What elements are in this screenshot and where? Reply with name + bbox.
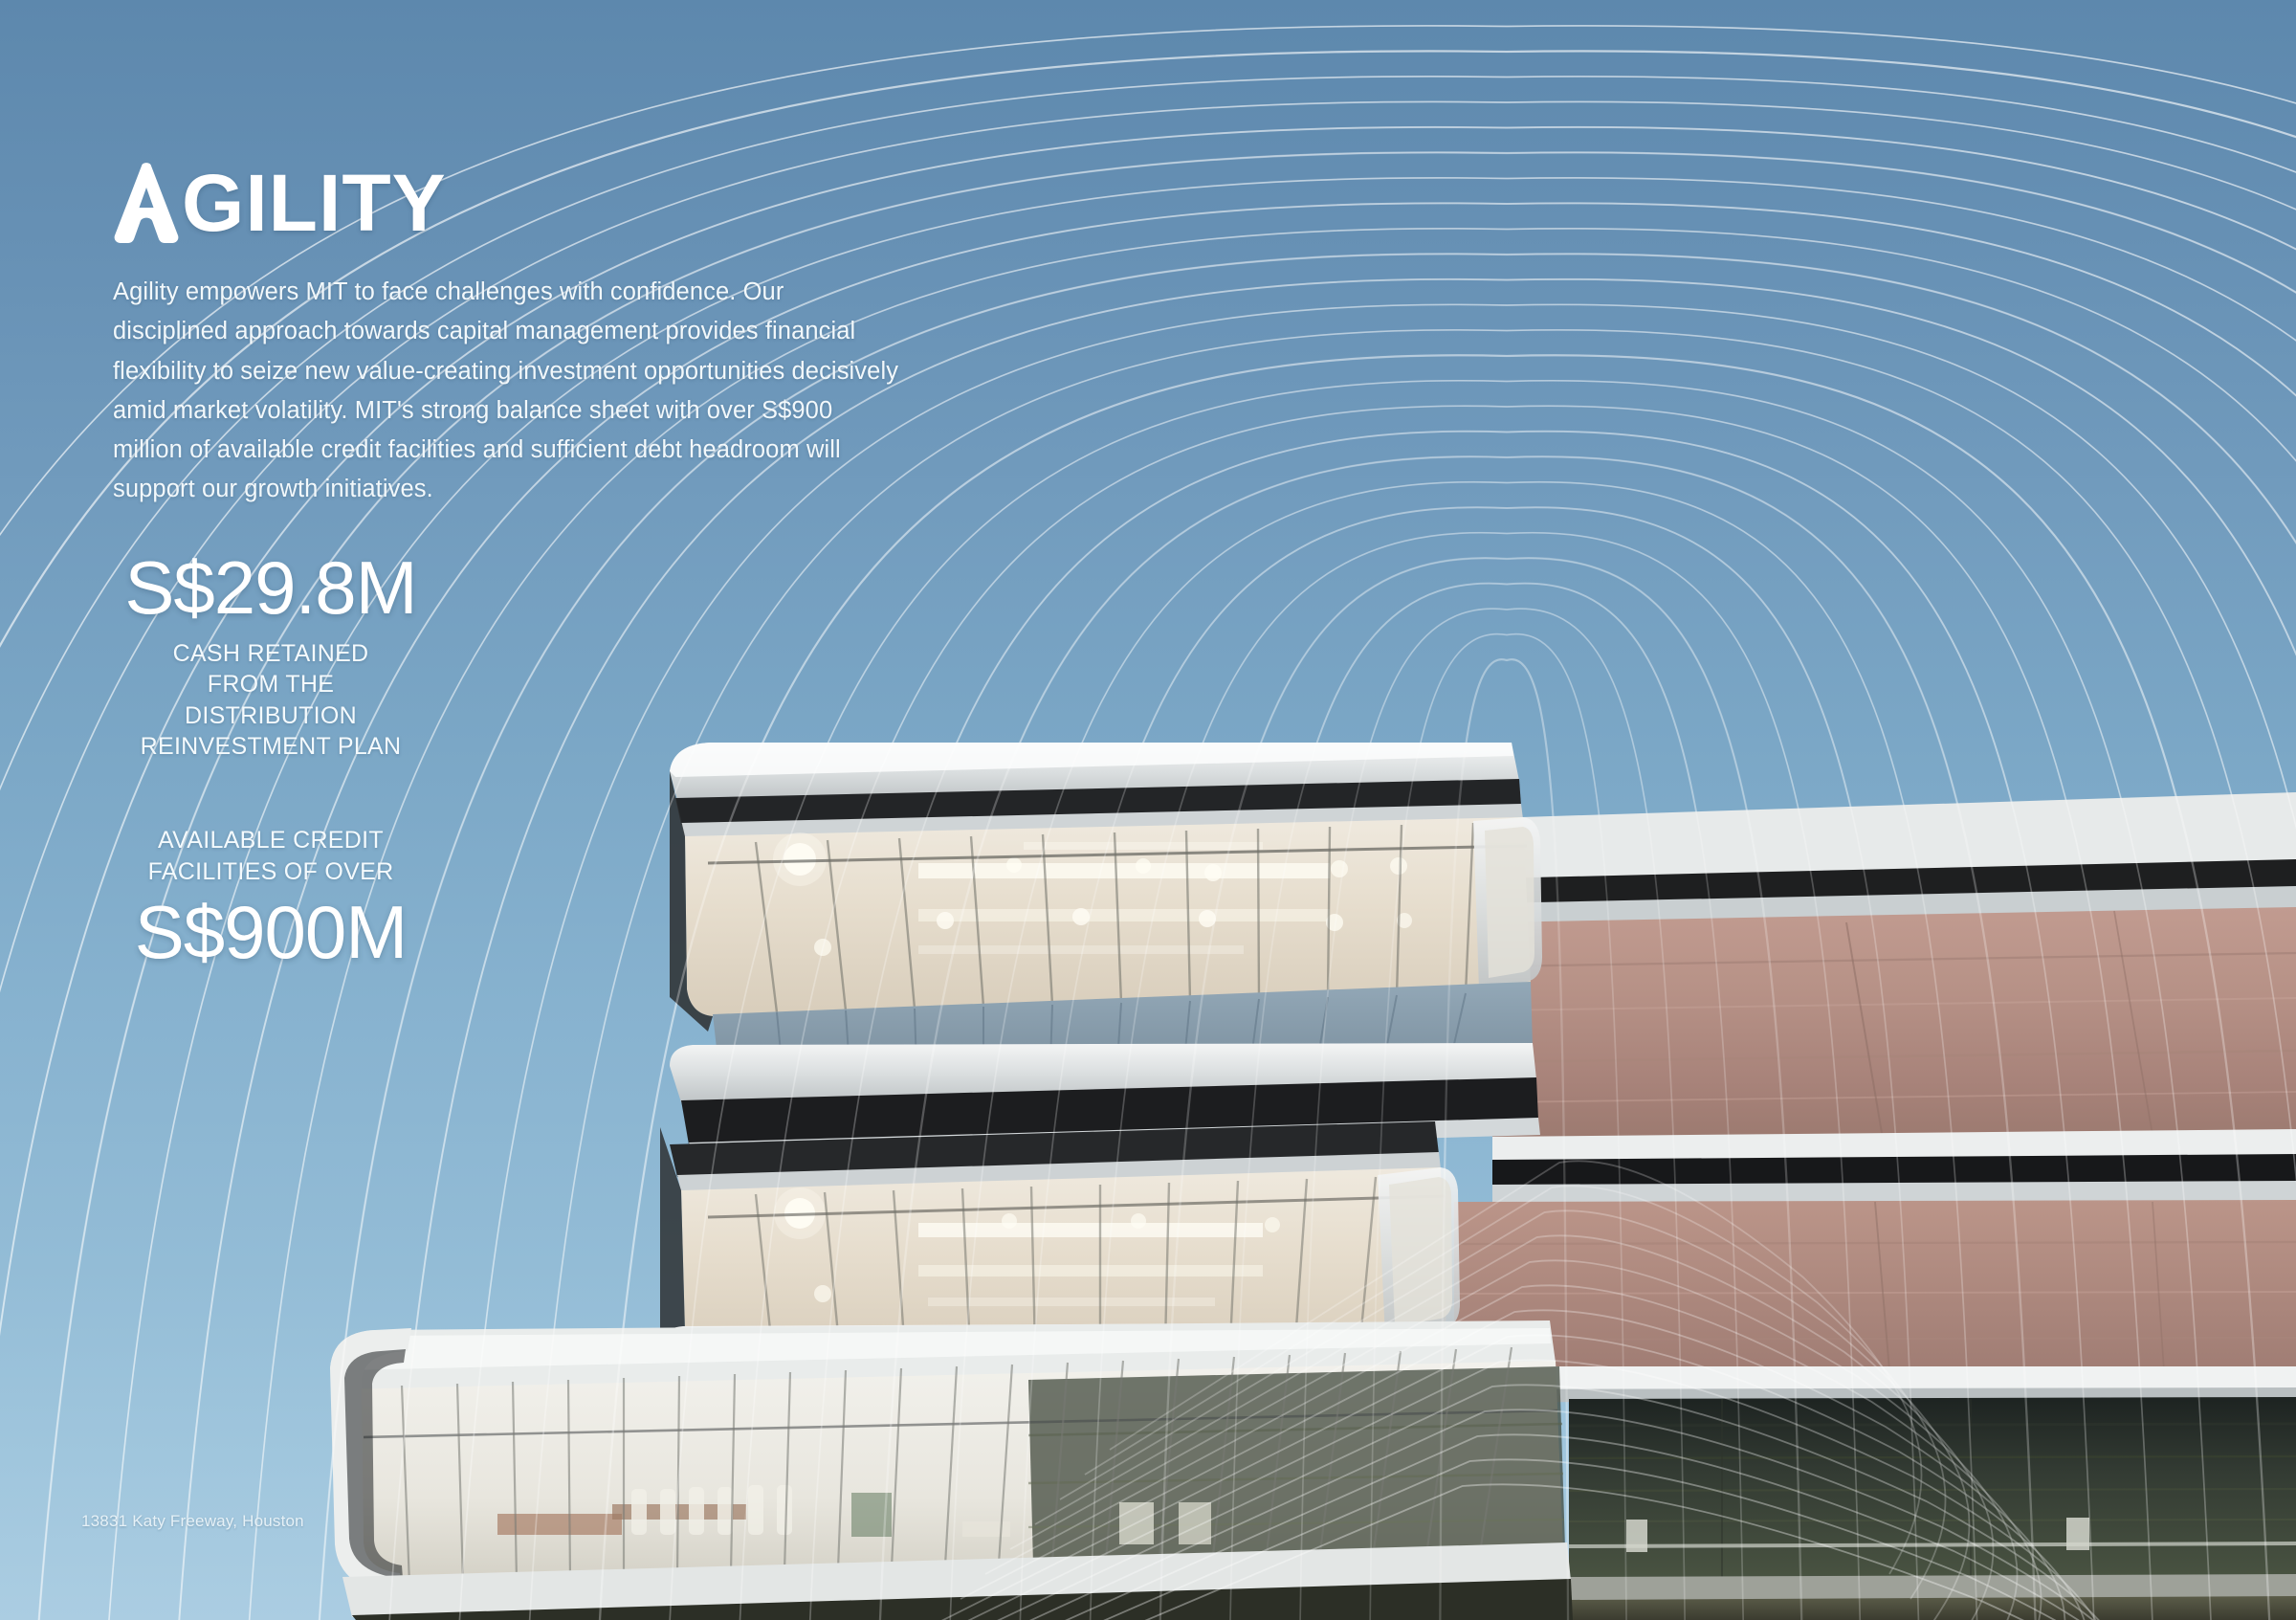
- arc-line: [807, 432, 2096, 1620]
- body-paragraph-text: Agility empowers MIT to face challenges …: [113, 273, 899, 510]
- caption-line: FROM THE: [113, 669, 429, 700]
- slide-root: GILITY Agility empowers MIT to face chal…: [0, 0, 2296, 1620]
- arc-line-chevron: [836, 1434, 2185, 1620]
- caption-line: REINVESTMENT PLAN: [113, 731, 429, 763]
- page-title-text: GILITY: [182, 163, 447, 243]
- arc-line: [667, 381, 2214, 1620]
- arc-line: [1018, 507, 1920, 1620]
- arc-line-chevron: [1060, 1210, 1970, 1620]
- photo-credit-caption: 13831 Katy Freeway, Houston: [81, 1512, 304, 1531]
- arc-line: [1440, 659, 1568, 1620]
- caption-line: CASH RETAINED: [113, 638, 429, 670]
- arc-line: [738, 406, 2155, 1620]
- arc-line-chevron: [1085, 1186, 1946, 1599]
- caption-line: FACILITIES OF OVER: [113, 856, 429, 888]
- caption-line: AVAILABLE CREDIT: [113, 825, 429, 856]
- stat-available-credit-caption: AVAILABLE CREDIT FACILITIES OF OVER: [113, 825, 429, 887]
- arc-line: [597, 355, 2273, 1620]
- stat-cash-retained: S$29.8M CASH RETAINED FROM THE DISTRIBUT…: [113, 550, 429, 763]
- caption-line: DISTRIBUTION: [113, 700, 429, 732]
- body-paragraph: Agility empowers MIT to face challenges …: [113, 273, 899, 510]
- stat-cash-retained-caption: CASH RETAINED FROM THE DISTRIBUTION REIN…: [113, 638, 429, 763]
- arc-line-chevron: [861, 1409, 2161, 1620]
- stat-available-credit: AVAILABLE CREDIT FACILITIES OF OVER S$90…: [113, 825, 429, 971]
- agility-a-logo-glyph: [113, 163, 180, 243]
- stat-available-credit-value: S$900M: [113, 895, 429, 971]
- arc-line: [948, 482, 1979, 1620]
- arc-line: [1370, 634, 1627, 1620]
- arc-line-chevron: [960, 1310, 2065, 1620]
- arc-line: [526, 330, 2296, 1620]
- arc-line: [1229, 584, 1745, 1620]
- page-title: GILITY: [113, 163, 447, 243]
- stat-cash-retained-value: S$29.8M: [113, 550, 429, 627]
- arc-line: [1299, 609, 1686, 1620]
